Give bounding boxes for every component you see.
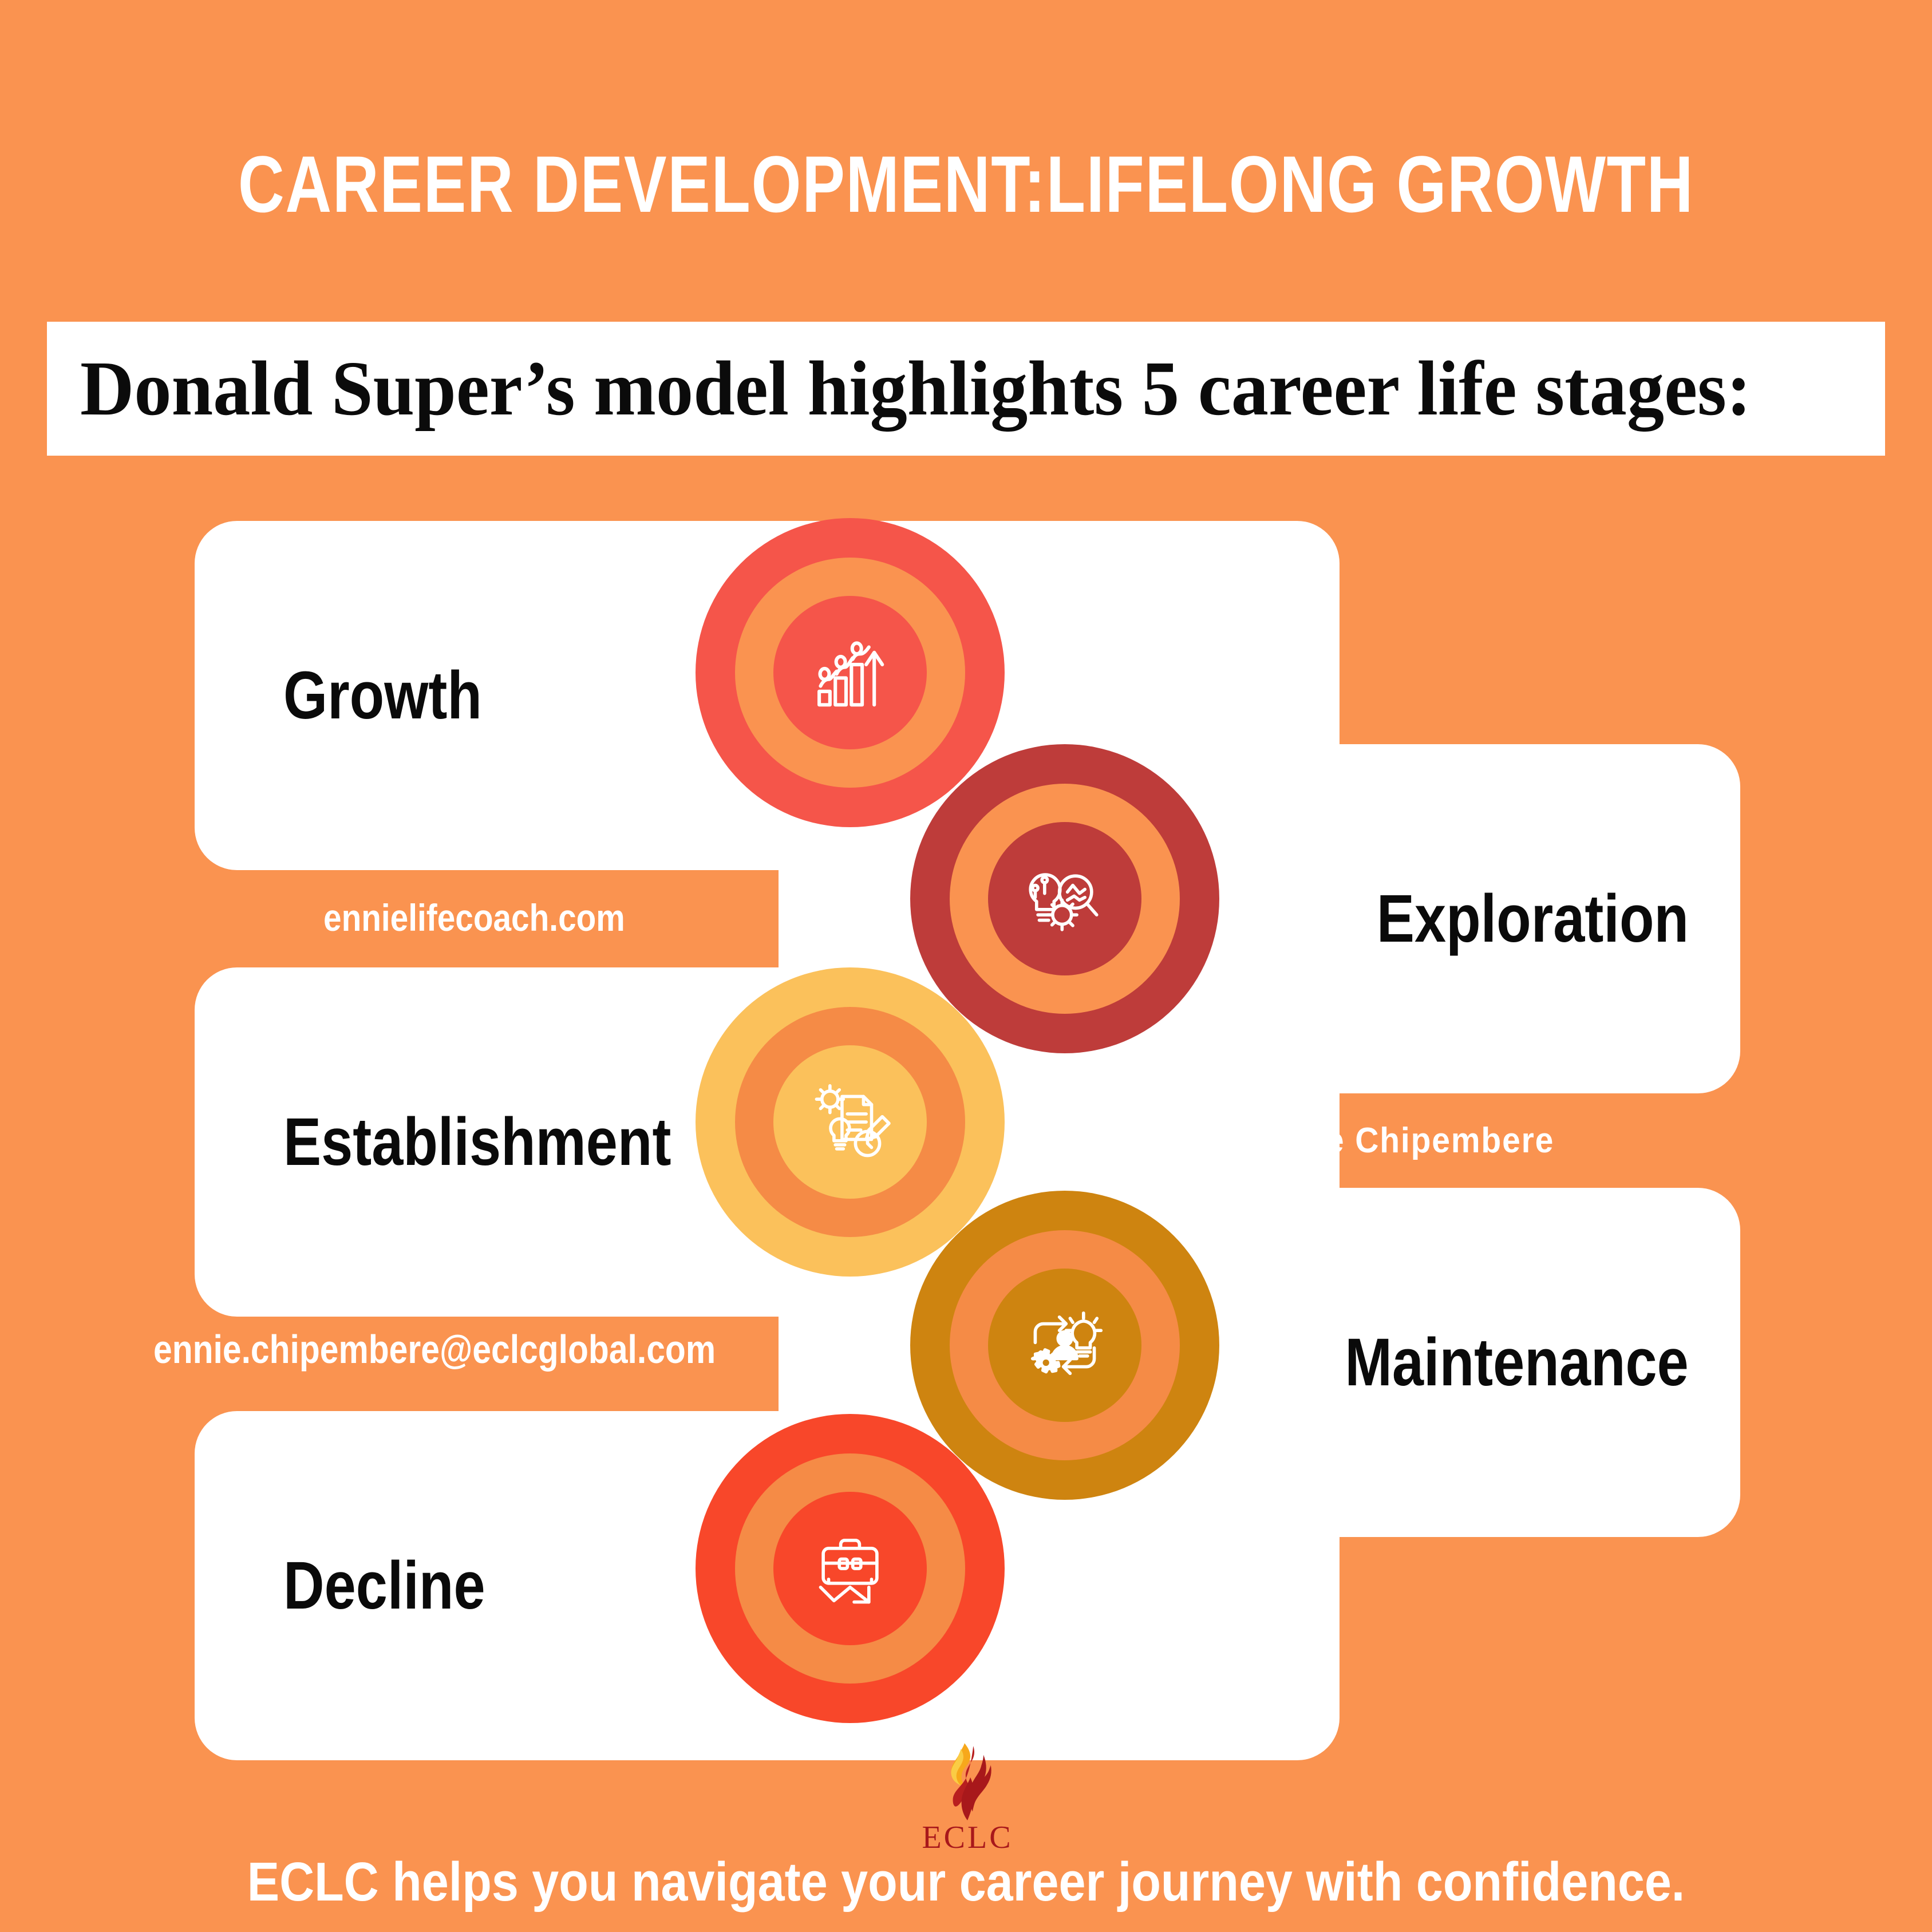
bar-chart-people-growth-icon xyxy=(807,630,893,716)
gear-document-pencil-bulb-clock-icon xyxy=(807,1079,893,1165)
stage-medallion-establishment xyxy=(696,967,1005,1277)
cycle-person-bulb-gear-icon xyxy=(1022,1302,1108,1388)
stage-medallion-maintenance xyxy=(910,1191,1219,1500)
subtitle-text: Donald Super’s model highlights 5 career… xyxy=(80,350,1751,428)
author-name-text: Ennie Chipembere xyxy=(1251,1123,1554,1159)
medallion-inner-establishment xyxy=(773,1045,927,1199)
email-text[interactable]: ennie.chipembere@eclcglobal.com xyxy=(153,1329,716,1369)
stage-medallion-decline xyxy=(696,1414,1005,1723)
medallion-inner-maintenance xyxy=(988,1269,1141,1422)
footer-tagline: ECLC helps you navigate your career jour… xyxy=(116,1855,1816,1910)
lightbulb-gear-magnifier-icon xyxy=(1022,856,1108,942)
eclc-logo-text: ECLC xyxy=(916,1822,1019,1854)
eclc-logo: ECLC xyxy=(916,1740,1019,1855)
stage-label-growth: Growth xyxy=(283,662,482,729)
medallion-inner-exploration xyxy=(988,822,1141,975)
medallion-inner-decline xyxy=(773,1492,927,1645)
medallion-inner-growth xyxy=(773,596,927,749)
hand-holding-flame-icon xyxy=(930,1740,1005,1820)
infographic-canvas: CAREER DEVELOPMENT:LIFELONG GROWTH Donal… xyxy=(0,0,1932,1932)
subtitle-banner: Donald Super’s model highlights 5 career… xyxy=(47,322,1885,456)
page-title: CAREER DEVELOPMENT:LIFELONG GROWTH xyxy=(193,144,1739,224)
stage-label-exploration: Exploration xyxy=(1377,885,1689,953)
website-text[interactable]: ennielifecoach.com xyxy=(323,899,625,937)
stage-label-maintenance: Maintenance xyxy=(1345,1329,1689,1396)
stage-label-establishment: Establishment xyxy=(283,1108,671,1176)
stage-medallion-exploration xyxy=(910,744,1219,1053)
stage-label-decline: Decline xyxy=(283,1552,485,1619)
stage-medallion-growth xyxy=(696,518,1005,827)
briefcase-down-arrow-icon xyxy=(807,1526,893,1611)
